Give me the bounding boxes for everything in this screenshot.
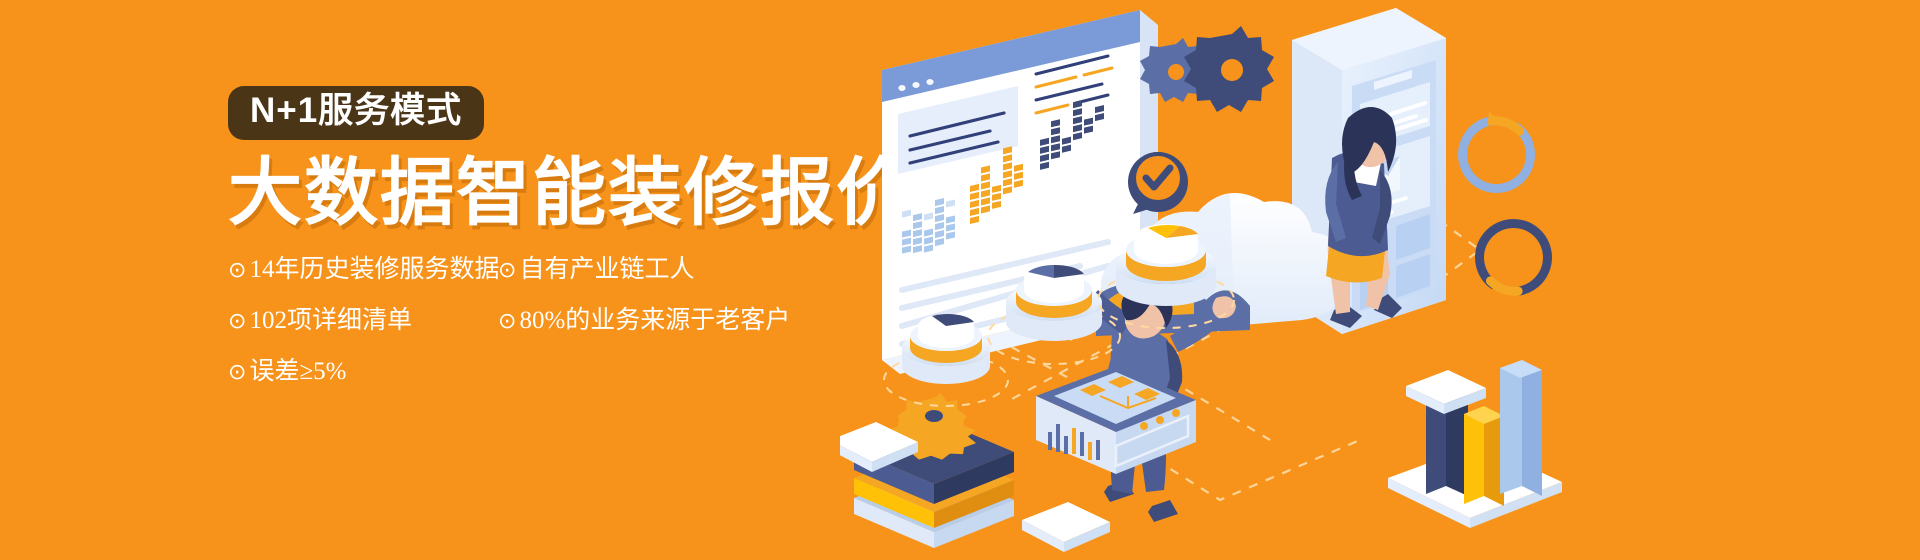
refresh-ring-upper (1458, 112, 1535, 193)
hex-stack-with-gear (854, 393, 1014, 548)
circled-dot-icon: ⊙ (228, 260, 246, 282)
big-data-isometric-illustration (840, 0, 1920, 560)
list-item: ⊙ 102项详细清单 (228, 308, 498, 333)
circled-dot-icon: ⊙ (498, 260, 516, 282)
list-item-label: 80%的业务来源于老客户 (519, 308, 790, 333)
list-item-label: 自有产业链工人 (519, 257, 694, 282)
floating-card-a (1406, 370, 1486, 414)
list-item: ⊙ 80%的业务来源于老客户 (498, 308, 828, 333)
refresh-ring-lower (1475, 219, 1552, 296)
circled-dot-icon: ⊙ (228, 311, 246, 333)
service-mode-badge: N+1服务模式 (228, 86, 484, 140)
circled-dot-icon: ⊙ (228, 362, 246, 384)
list-item-label: 14年历史装修服务数据 (249, 257, 499, 282)
list-item-label: 误差≥5% (249, 359, 346, 384)
list-item: ⊙ 14年历史装修服务数据 (228, 257, 498, 282)
list-item-label: 102项详细清单 (249, 308, 412, 333)
gear-large (1184, 26, 1274, 112)
circled-dot-icon: ⊙ (498, 311, 516, 333)
list-item: ⊙ 自有产业链工人 (498, 257, 828, 282)
promo-banner: N+1服务模式 大数据智能装修报价 ⊙ 14年历史装修服务数据 ⊙ 自有产业链工… (0, 0, 1920, 560)
feature-list: ⊙ 14年历史装修服务数据 ⊙ 自有产业链工人 ⊙ 102项详细清单 ⊙ 80%… (228, 257, 848, 410)
floating-card-c (1022, 502, 1110, 552)
list-item: ⊙ 误差≥5% (228, 359, 498, 384)
